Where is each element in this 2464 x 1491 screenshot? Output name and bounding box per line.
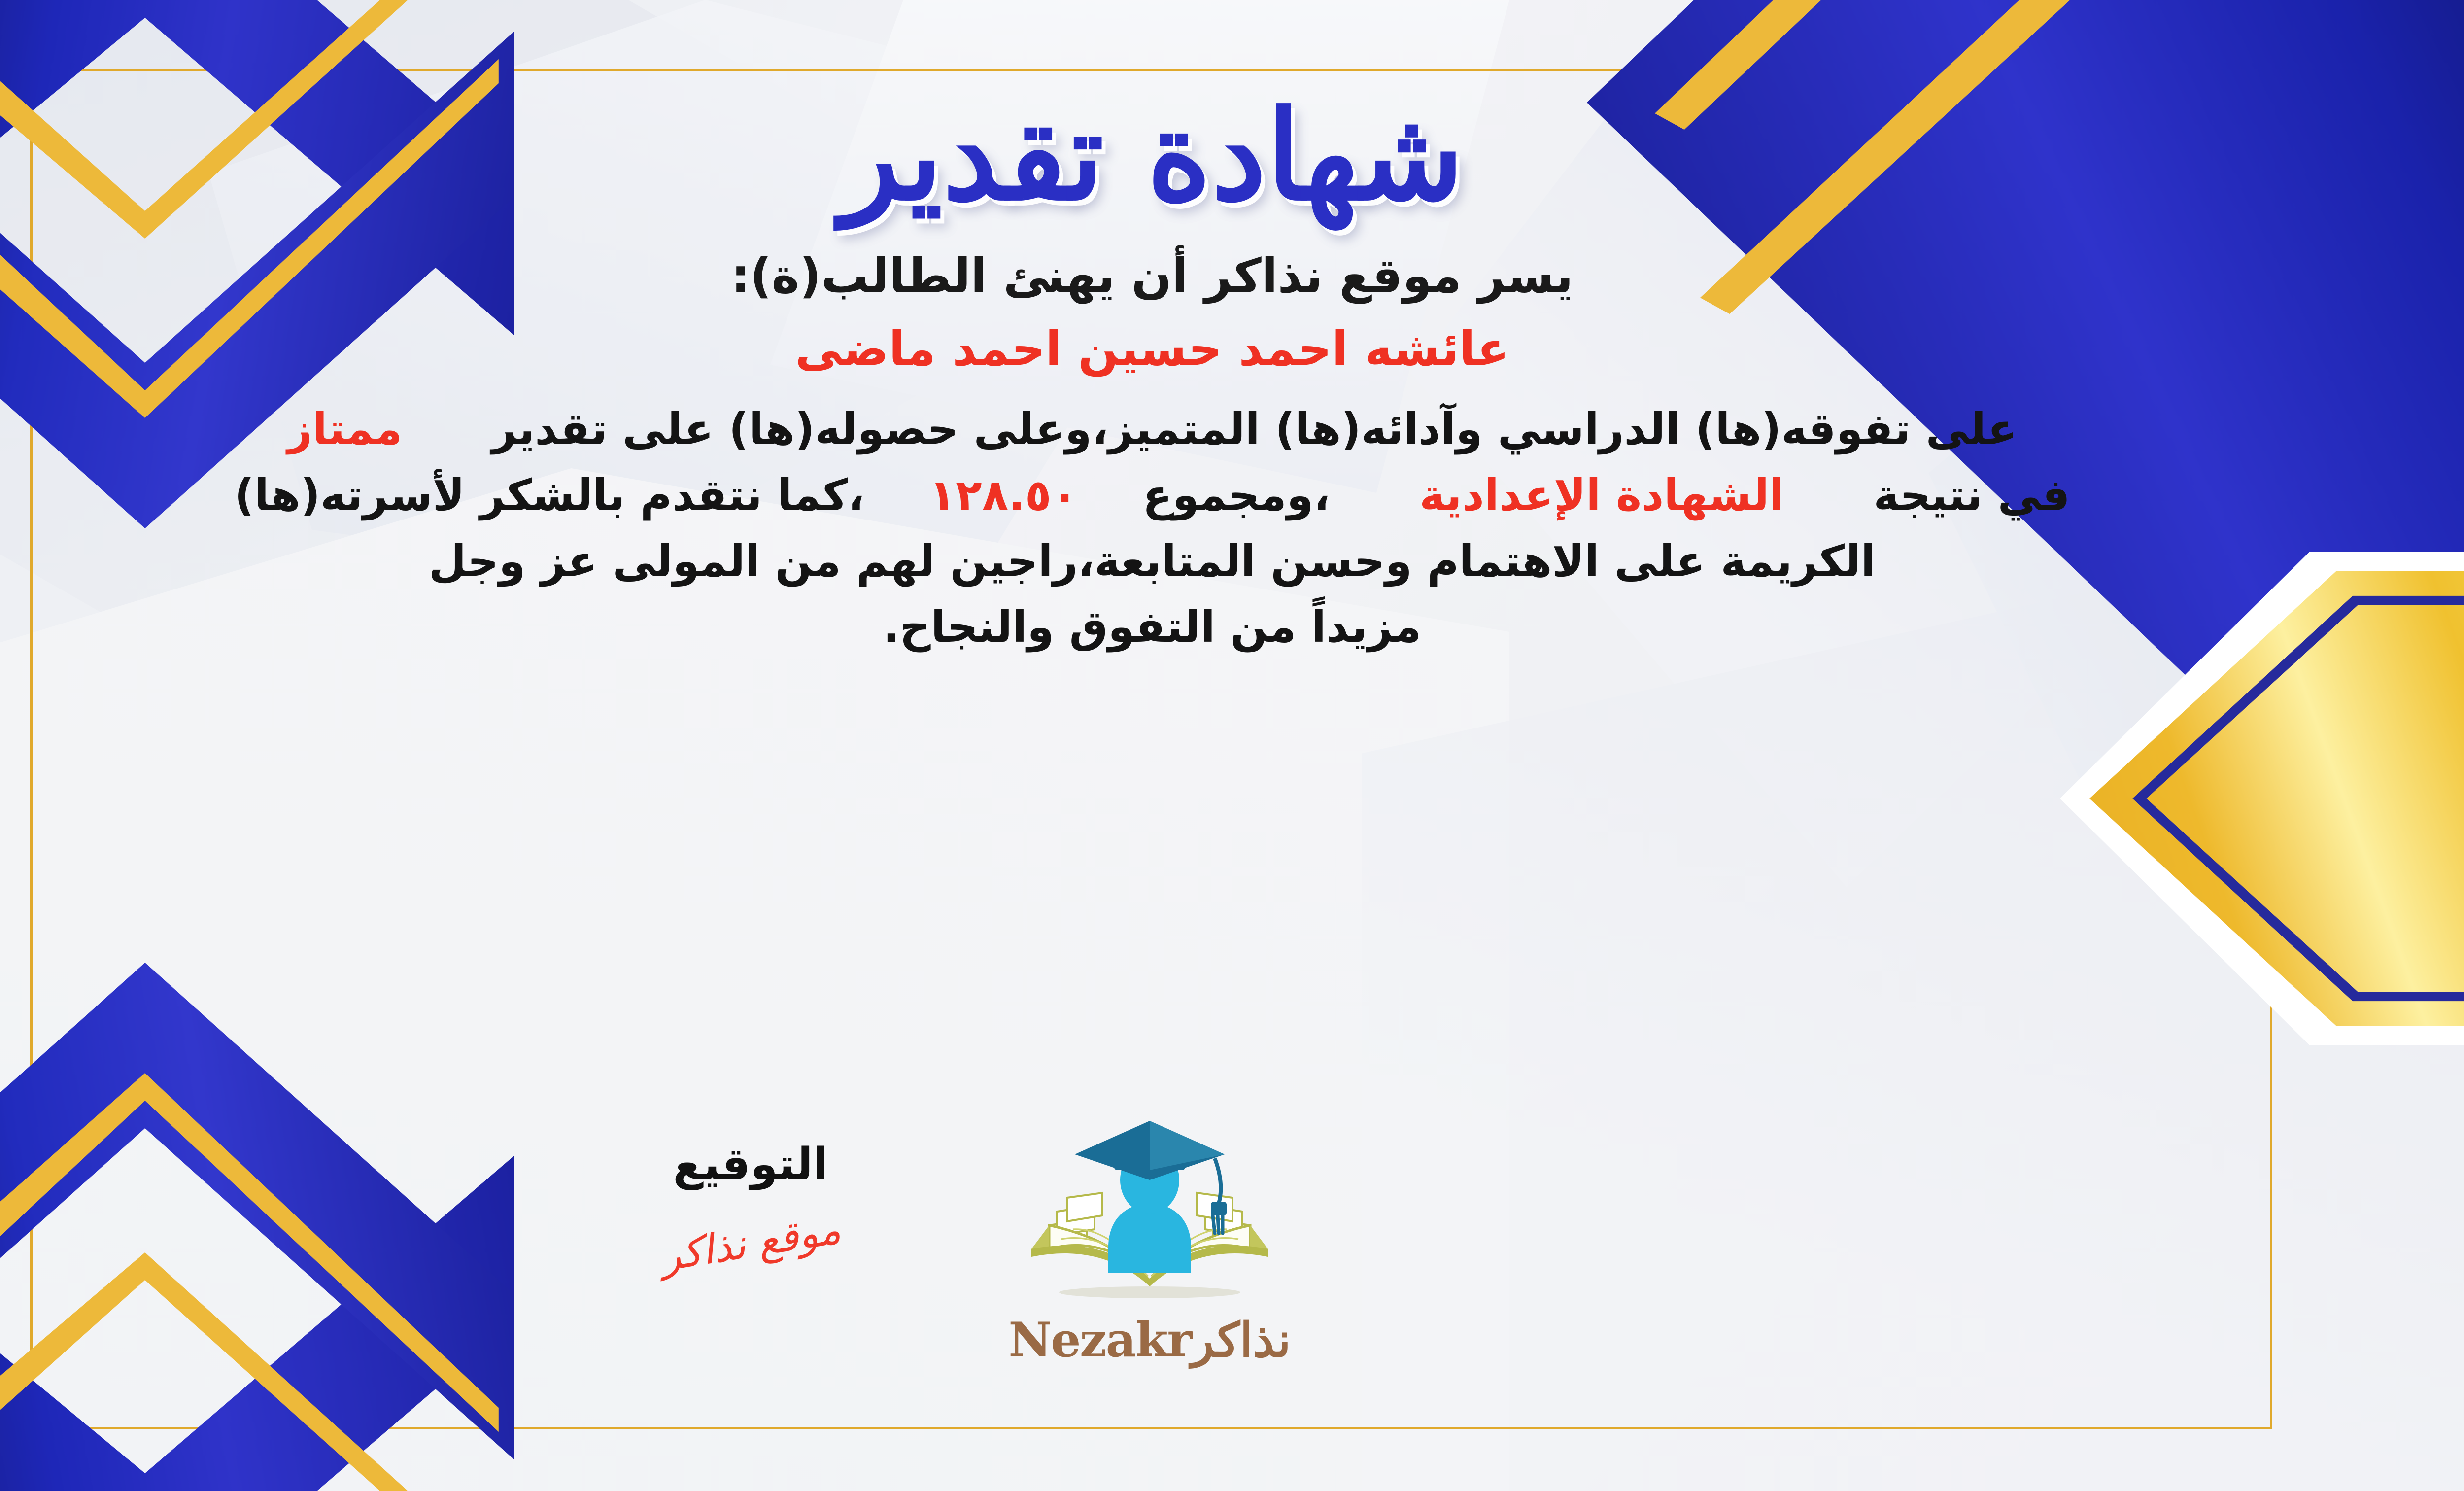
signature-block: التوقيع موقع نذاكر bbox=[558, 1139, 943, 1267]
body-line-3: الكريمة على الاهتمام وحسن المتابعة،راجين… bbox=[46, 528, 2259, 594]
brand-wordmark-latin: Nezakr bbox=[1008, 1312, 1191, 1368]
certificate-content: شهادة تقدير يسر موقع نذاكر أن يهنئ الطال… bbox=[46, 74, 2259, 1424]
certificate-footer: التوقيع موقع نذاكر bbox=[46, 1099, 2259, 1415]
brand-wordmark-arabic: نذاكر bbox=[1191, 1312, 1291, 1368]
brand-logo-block: نذاكرNezakr bbox=[943, 1109, 1357, 1368]
signature-handwriting: موقع نذاكر bbox=[657, 1206, 844, 1281]
body-line-2-mid: ،ومجموع bbox=[1143, 470, 1330, 520]
certificate-title: شهادة تقدير bbox=[46, 89, 2259, 222]
body-line-2-prefix: في نتيجة bbox=[1873, 470, 2070, 520]
brand-wordmark: نذاكرNezakr bbox=[943, 1312, 1357, 1368]
certificate-canvas: شهادة تقدير يسر موقع نذاكر أن يهنئ الطال… bbox=[0, 0, 2464, 1491]
body-line-1-text: على تفوقه(ها) الدراسي وآدائه(ها) المتميز… bbox=[492, 404, 2017, 454]
signature-label: التوقيع bbox=[558, 1139, 943, 1190]
certificate-body: على تفوقه(ها) الدراسي وآدائه(ها) المتميز… bbox=[46, 396, 2259, 660]
body-line-1: على تفوقه(ها) الدراسي وآدائه(ها) المتميز… bbox=[46, 396, 2259, 462]
body-line-4: مزيداً من التفوق والنجاح. bbox=[46, 594, 2259, 660]
total-score: ١٢٨.٥٠ bbox=[929, 470, 1078, 520]
intro-line: يسر موقع نذاكر أن يهنئ الطالب(ة): bbox=[46, 248, 2259, 304]
exam-name: الشهادة الإعدادية bbox=[1419, 470, 1784, 520]
graduate-open-book-logo-icon bbox=[992, 1109, 1307, 1321]
body-line-2: في نتيجة الشهادة الإعدادية ،ومجموع ١٢٨.٥… bbox=[46, 462, 2259, 528]
grade-value: ممتاز bbox=[287, 404, 402, 454]
student-name: عائشه احمد حسين احمد ماضى bbox=[46, 321, 2259, 377]
body-line-2-suffix: ،كما نتقدم بالشكر لأسرته(ها) bbox=[235, 470, 865, 520]
